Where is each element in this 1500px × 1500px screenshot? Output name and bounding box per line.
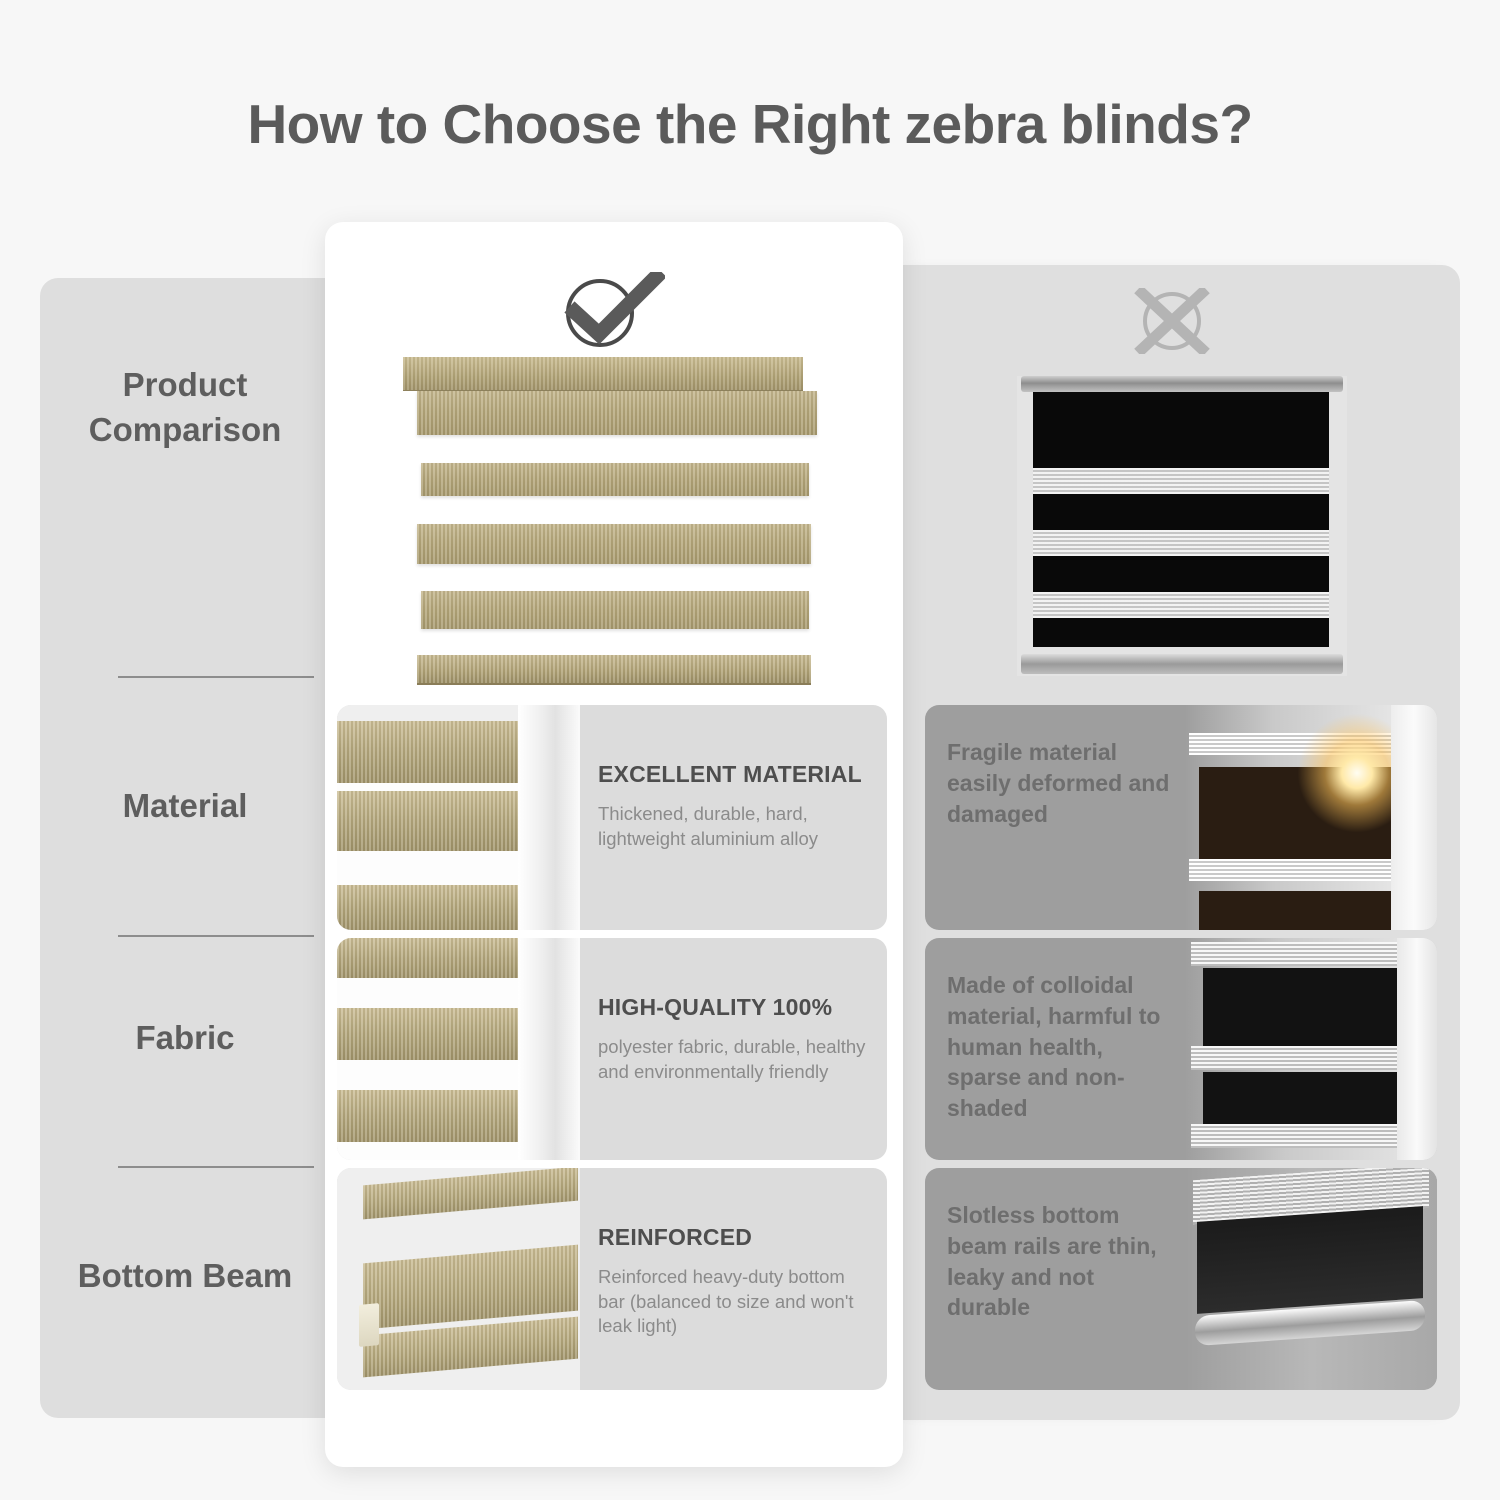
good-feature-material: EXCELLENT MATERIAL Thickened, durable, h… <box>337 705 887 930</box>
sidebar-item-material: Material <box>40 756 330 856</box>
sheer-stripe <box>1033 592 1329 618</box>
bad-feature-fabric: Made of colloidal material, harmful to h… <box>925 938 1437 1160</box>
thin-bottom-rail-photo <box>1185 1168 1437 1390</box>
light-leak-photo <box>1185 705 1437 930</box>
sheer-stripe <box>1033 468 1329 494</box>
sidebar-divider-2 <box>118 935 314 937</box>
cross-circle-icon <box>1126 288 1218 354</box>
good-feature-fabric: HIGH-QUALITY 100% polyester fabric, dura… <box>337 938 887 1160</box>
gold-blind-closeup-photo <box>337 705 580 930</box>
check-circle-icon <box>555 272 665 350</box>
black-fabric <box>1033 392 1329 647</box>
bad-feature-bottom-beam: Slotless bottom beam rails are thin, lea… <box>925 1168 1437 1390</box>
feature-desc: Made of colloidal material, harmful to h… <box>947 970 1175 1124</box>
good-hero-image <box>403 357 823 697</box>
sidebar-divider-3 <box>118 1166 314 1168</box>
gold-band <box>417 391 817 435</box>
sparse-fabric-photo <box>1185 938 1437 1160</box>
sidebar-item-label: Product Comparison <box>40 363 330 452</box>
feature-desc: Fragile material easily deformed and dam… <box>947 737 1175 829</box>
infographic-page: How to Choose the Right zebra blinds? Pr… <box>0 0 1500 1500</box>
gold-bottom-bar <box>417 655 811 685</box>
feature-title: HIGH-QUALITY 100% <box>598 994 869 1021</box>
gold-band <box>417 524 811 564</box>
sidebar-divider-1 <box>118 676 314 678</box>
page-title: How to Choose the Right zebra blinds? <box>0 92 1500 156</box>
feature-title: EXCELLENT MATERIAL <box>598 761 869 788</box>
sidebar-item-label: Bottom Beam <box>78 1254 293 1299</box>
sidebar-item-fabric: Fabric <box>40 988 330 1088</box>
feature-title: REINFORCED <box>598 1224 869 1251</box>
gold-band <box>421 591 809 629</box>
bad-feature-material: Fragile material easily deformed and dam… <box>925 705 1437 930</box>
black-bottom-rail <box>1021 654 1343 674</box>
gold-bottom-bar-photo <box>337 1168 580 1390</box>
feature-desc: polyester fabric, durable, healthy and e… <box>598 1035 869 1084</box>
feature-desc: Slotless bottom beam rails are thin, lea… <box>947 1200 1175 1323</box>
gold-fabric-closeup-photo <box>337 938 580 1160</box>
feature-desc: Thickened, durable, hard, lightweight al… <box>598 802 869 851</box>
sidebar-item-bottom-beam: Bottom Beam <box>40 1206 330 1346</box>
sidebar-item-label: Fabric <box>135 1016 234 1061</box>
gold-band <box>421 463 809 496</box>
feature-desc: Reinforced heavy-duty bottom bar (balanc… <box>598 1265 869 1339</box>
bad-hero-image <box>1017 376 1347 676</box>
sidebar-item-product-comparison: Product Comparison <box>40 318 330 498</box>
sidebar-item-label: Material <box>123 784 248 829</box>
sidebar-panel: Product Comparison Material Fabric Botto… <box>40 278 330 1418</box>
good-feature-bottom-beam: REINFORCED Reinforced heavy-duty bottom … <box>337 1168 887 1390</box>
gold-valance <box>403 357 803 391</box>
sheer-stripe <box>1033 530 1329 556</box>
black-headrail <box>1021 376 1343 392</box>
